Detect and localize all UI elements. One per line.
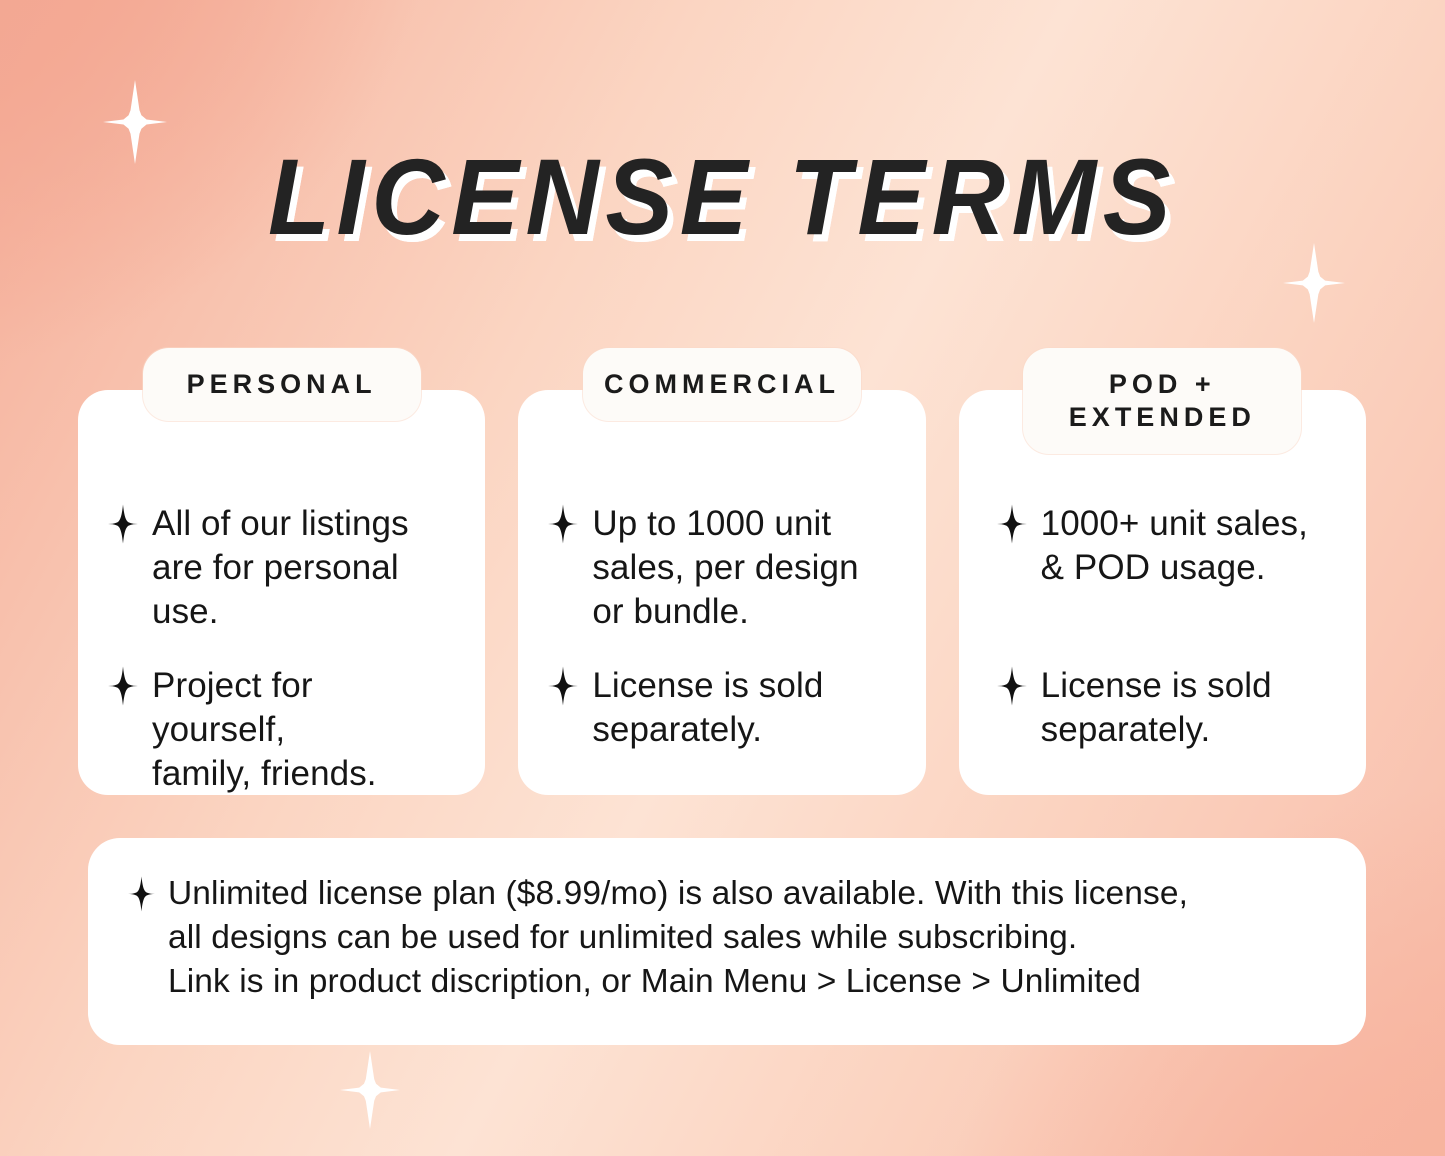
tier-card-commercial: COMMERCIAL Up to 1000 unit sales, per de…: [518, 390, 925, 795]
banner-line: all designs can be used for unlimited sa…: [168, 916, 1326, 960]
list-item-text: Project for yourself, family, friends.: [152, 664, 455, 796]
bullet-line: All of our listings: [152, 504, 409, 543]
tier-badge-line: EXTENDED: [1031, 401, 1293, 434]
list-item-text: 1000+ unit sales, & POD usage.: [1041, 502, 1336, 590]
tier-bullet-list: Up to 1000 unit sales, per design or bun…: [548, 502, 895, 752]
tier-badge-line: POD +: [1031, 368, 1293, 401]
bullet-line: Project for yourself,: [152, 666, 313, 749]
bullet-line: License is sold: [1041, 666, 1272, 705]
page-title: LICENSE TERMS: [43, 143, 1401, 251]
bullet-line: use.: [152, 592, 219, 631]
star-bullet-icon: [548, 666, 578, 706]
bullet-line: are for personal: [152, 548, 399, 587]
list-item-text: License is sold separately.: [592, 664, 895, 752]
list-item: License is sold separately.: [989, 664, 1336, 752]
bullet-line: Up to 1000 unit: [592, 504, 831, 543]
bullet-line: & POD usage.: [1041, 548, 1266, 587]
list-item: Up to 1000 unit sales, per design or bun…: [548, 502, 895, 634]
bullet-line: License is sold: [592, 666, 823, 705]
list-item: All of our listings are for personal use…: [108, 502, 455, 634]
bullet-line: or bundle.: [592, 592, 749, 631]
list-item: 1000+ unit sales, & POD usage.: [989, 502, 1336, 590]
unlimited-plan-banner: Unlimited license plan ($8.99/mo) is als…: [88, 838, 1366, 1045]
list-item: Project for yourself, family, friends.: [108, 664, 455, 796]
star-bullet-icon: [997, 504, 1027, 544]
tier-badge-line: COMMERCIAL: [591, 368, 853, 401]
bullet-line: family, friends.: [152, 754, 377, 793]
list-item-text: License is sold separately.: [1041, 664, 1336, 752]
list-item: License is sold separately.: [548, 664, 895, 752]
bullet-line: 1000+ unit sales,: [1041, 504, 1308, 543]
banner-line: Unlimited license plan ($8.99/mo) is als…: [168, 872, 1326, 916]
tier-card-pod-extended: POD + EXTENDED 1000+ unit sales, & POD u…: [959, 390, 1366, 795]
tier-badge-line: PERSONAL: [151, 368, 413, 401]
list-item-text: Unlimited license plan ($8.99/mo) is als…: [168, 872, 1326, 1005]
tier-badge-pod-extended: POD + EXTENDED: [1023, 348, 1301, 454]
license-tier-cards: PERSONAL All of our listings are for per…: [78, 390, 1366, 795]
star-bullet-icon: [108, 504, 138, 544]
star-bullet-icon: [997, 666, 1027, 706]
list-item-text: Up to 1000 unit sales, per design or bun…: [592, 502, 895, 634]
tier-badge-commercial: COMMERCIAL: [583, 348, 861, 421]
list-item-text: All of our listings are for personal use…: [152, 502, 455, 634]
banner-line: Link is in product discription, or Main …: [168, 960, 1326, 1004]
list-item: Unlimited license plan ($8.99/mo) is als…: [128, 872, 1326, 1005]
star-bullet-icon: [128, 875, 155, 913]
star-bullet-icon: [108, 666, 138, 706]
bullet-line: separately.: [592, 710, 762, 749]
tier-badge-personal: PERSONAL: [143, 348, 421, 421]
star-bullet-icon: [548, 504, 578, 544]
bullet-line: separately.: [1041, 710, 1211, 749]
tier-bullet-list: 1000+ unit sales, & POD usage. License i…: [989, 502, 1336, 752]
tier-card-personal: PERSONAL All of our listings are for per…: [78, 390, 485, 795]
tier-bullet-list: All of our listings are for personal use…: [108, 502, 455, 797]
bullet-line: sales, per design: [592, 548, 858, 587]
